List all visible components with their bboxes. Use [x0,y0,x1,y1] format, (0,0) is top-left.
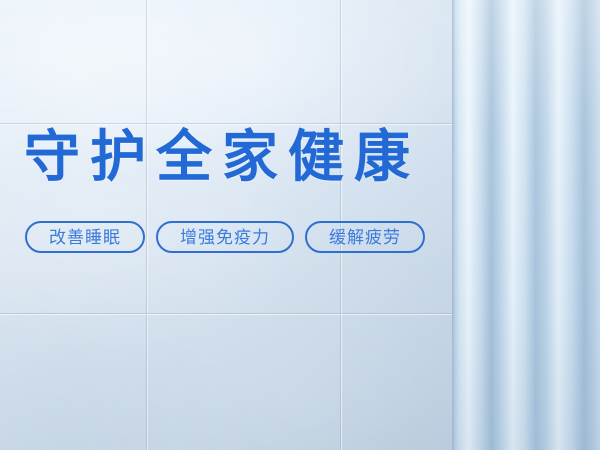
benefit-pill-boost-immunity[interactable]: 增强免疫力 [156,221,294,253]
health-banner: 守护全家健康 改善睡眠 增强免疫力 缓解疲劳 [0,0,600,450]
benefit-pill-relieve-fatigue[interactable]: 缓解疲劳 [305,221,425,253]
benefit-pill-improve-sleep[interactable]: 改善睡眠 [25,221,145,253]
benefit-pill-row: 改善睡眠 增强免疫力 缓解疲劳 [25,221,425,253]
glossy-column [452,0,600,450]
column-vertical-shading [452,0,600,450]
column-left-edge [452,0,455,450]
page-title: 守护全家健康 [24,124,420,190]
